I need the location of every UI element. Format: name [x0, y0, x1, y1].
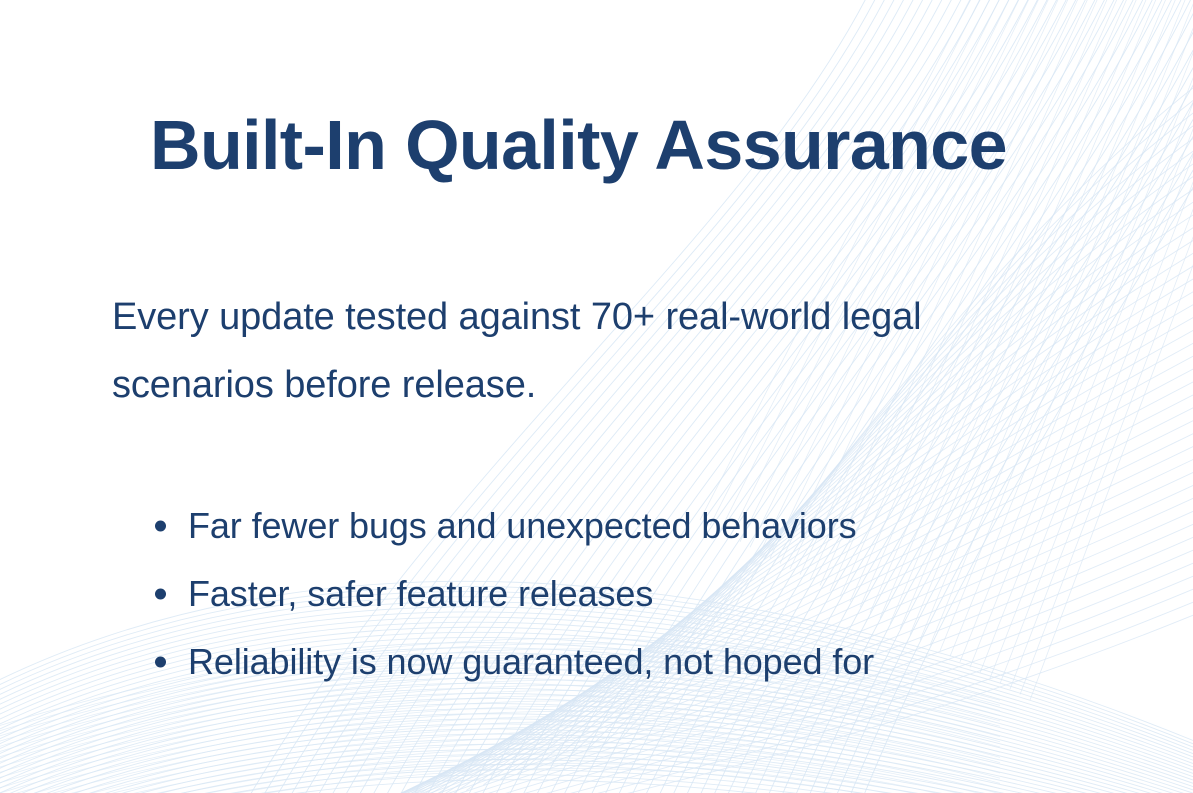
list-item-label: Reliability is now guaranteed, not hoped…	[188, 641, 874, 682]
list-item: Far fewer bugs and unexpected behaviors	[155, 492, 1135, 560]
list-item: Faster, safer feature releases	[155, 560, 1135, 628]
bullet-point-icon	[155, 589, 166, 600]
list-item-label: Faster, safer feature releases	[188, 573, 653, 614]
slide-subtitle: Every update tested against 70+ real-wor…	[112, 283, 1087, 419]
list-item-label: Far fewer bugs and unexpected behaviors	[188, 505, 857, 546]
list-item: Reliability is now guaranteed, not hoped…	[155, 628, 1135, 696]
slide-canvas: Built-In Quality Assurance Every update …	[0, 0, 1193, 793]
page-title: Built-In Quality Assurance	[150, 110, 1007, 180]
bullet-point-icon	[155, 657, 166, 668]
benefits-bullet-list: Far fewer bugs and unexpected behaviors …	[155, 492, 1135, 696]
bullet-point-icon	[155, 521, 166, 532]
slide-content: Built-In Quality Assurance Every update …	[0, 0, 1193, 793]
